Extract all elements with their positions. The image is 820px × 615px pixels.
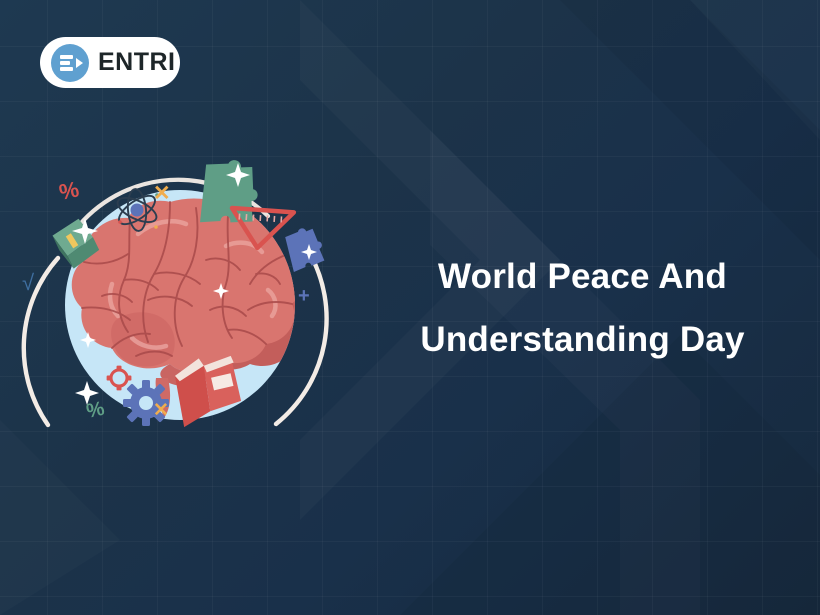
plus-symbol-blue: + xyxy=(298,285,310,307)
entri-e-play-icon xyxy=(51,44,89,82)
headline-line-2: Understanding Day xyxy=(355,308,810,371)
blue-puzzle-piece-icon xyxy=(284,225,326,272)
banner-canvas: ENTRI xyxy=(0,0,820,615)
percent-symbol-red: % xyxy=(57,176,81,205)
radical-symbol-blue: √ xyxy=(22,270,35,295)
cross-symbol-orange-bottom: ✕ xyxy=(153,400,169,421)
headline: World Peace And Understanding Day xyxy=(355,245,810,371)
brain-illustration-svg: % % ✕ ✕ + √ xyxy=(20,150,340,460)
entri-logo[interactable]: ENTRI xyxy=(40,37,180,88)
headline-line-1: World Peace And xyxy=(438,257,727,296)
brand-name: ENTRI xyxy=(98,50,176,75)
brain-illustration: % % ✕ ✕ + √ xyxy=(20,150,340,460)
cross-symbol-orange-top: ✕ xyxy=(153,182,171,205)
green-puzzle-piece-icon xyxy=(198,156,262,229)
